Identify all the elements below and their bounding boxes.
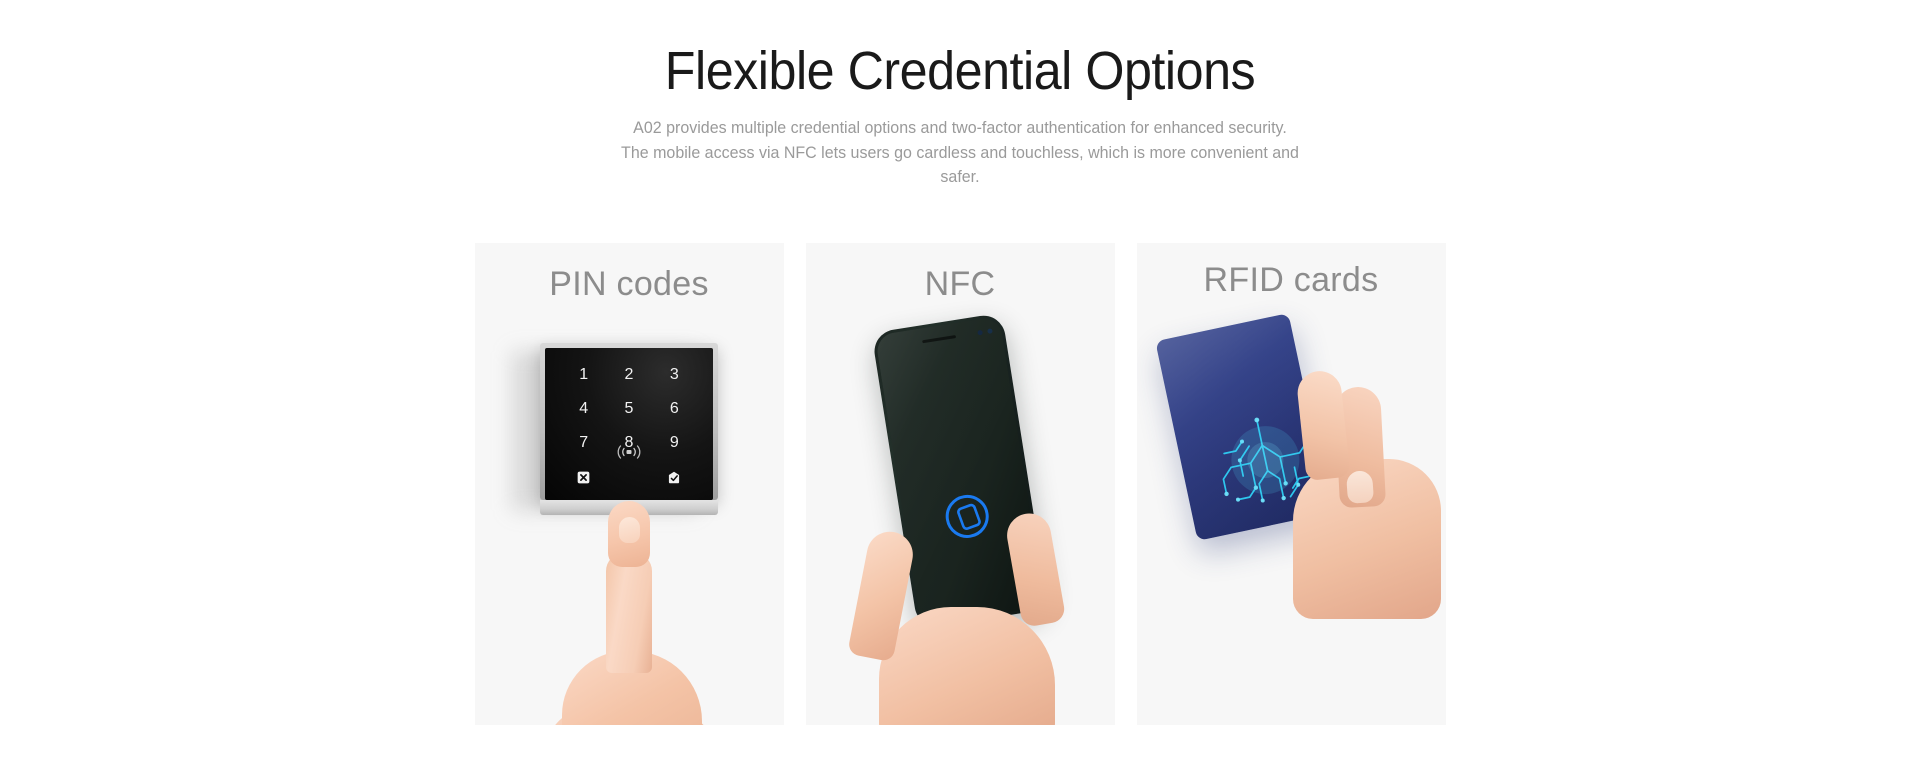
pin-codes-illustration: 1 2 3 4 5 6 7 8 9 <box>475 243 784 725</box>
rfid-illustration <box>1137 243 1446 725</box>
credential-card-nfc[interactable]: NFC <box>806 243 1115 725</box>
keypad-frame: 1 2 3 4 5 6 7 8 9 <box>540 343 718 500</box>
keypad-key-3[interactable]: 3 <box>652 358 697 392</box>
clear-x-icon[interactable] <box>561 460 606 494</box>
page-header: Flexible Credential Options A02 provides… <box>0 0 1920 190</box>
credential-cards-row: PIN codes 1 2 3 4 5 6 <box>0 243 1920 733</box>
keypad-screen: 1 2 3 4 5 6 7 8 9 <box>545 348 713 500</box>
finger-nail <box>619 517 640 543</box>
nfc-tap-card-icon <box>940 489 995 544</box>
keypad-key-blank <box>606 460 651 494</box>
phone-screen <box>875 316 1045 626</box>
pressing-finger <box>602 501 656 716</box>
card-title-pin-codes: PIN codes <box>475 243 784 304</box>
keypad-key-4[interactable]: 4 <box>561 392 606 426</box>
keypad-key-6[interactable]: 6 <box>652 392 697 426</box>
hand-palm <box>879 607 1055 725</box>
keypad-key-grid: 1 2 3 4 5 6 7 8 9 <box>545 348 713 500</box>
confirm-check-icon[interactable] <box>652 460 697 494</box>
hand-finger-index <box>1295 369 1350 481</box>
hand-fingernail <box>1346 470 1374 504</box>
rfid-card-in-hand <box>1161 311 1421 641</box>
page-title: Flexible Credential Options <box>67 42 1853 100</box>
keypad-key-5[interactable]: 5 <box>606 392 651 426</box>
credential-card-rfid-cards[interactable]: RFID cards <box>1137 243 1446 725</box>
credential-card-pin-codes[interactable]: PIN codes 1 2 3 4 5 6 <box>475 243 784 725</box>
card-title-rfid-cards: RFID cards <box>1137 243 1446 300</box>
nfc-illustration <box>806 243 1115 725</box>
finger-body <box>606 553 652 673</box>
keypad-key-7[interactable]: 7 <box>561 426 606 460</box>
nfc-wave-icon <box>614 444 644 460</box>
keypad-key-9[interactable]: 9 <box>652 426 697 460</box>
keypad-key-1[interactable]: 1 <box>561 358 606 392</box>
keypad-device: 1 2 3 4 5 6 7 8 9 <box>524 343 734 515</box>
card-title-nfc: NFC <box>806 243 1115 304</box>
holding-hand <box>1291 363 1427 613</box>
page-subtitle: A02 provides multiple credential options… <box>621 116 1300 189</box>
smartphone <box>871 313 1048 630</box>
credential-options-page: Flexible Credential Options A02 provides… <box>0 0 1920 780</box>
keypad-key-2[interactable]: 2 <box>606 358 651 392</box>
